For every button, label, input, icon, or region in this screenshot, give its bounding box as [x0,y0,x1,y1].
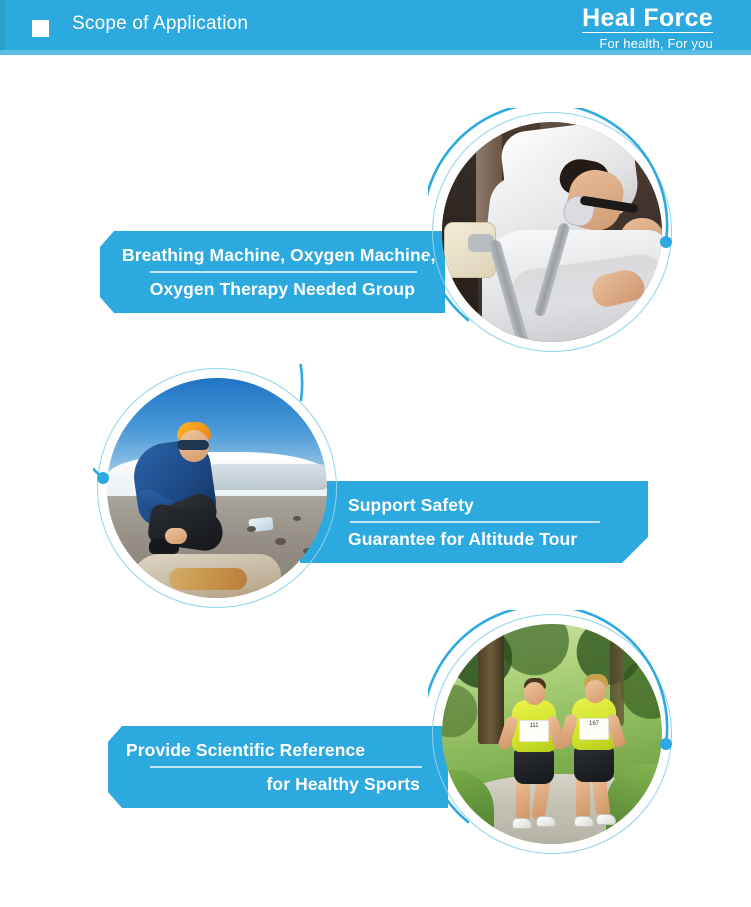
banner-separator-rule [350,521,600,523]
banner-line-2: for Healthy Sports [126,773,434,795]
photo-clip [442,122,662,342]
brand-name: Heal Force [582,5,713,33]
banner-altitude-tour: Support Safety Guarantee for Altitude To… [300,481,648,563]
banner-healthy-sports: Provide Scientific Reference for Healthy… [108,726,448,808]
photo-content: 111 187 [442,624,662,844]
cpap-patient-sleeping-photo [432,112,672,352]
photo-content [107,378,327,598]
race-bib-number-female: 187 [579,721,609,728]
banner-line-2: Guarantee for Altitude Tour [348,528,622,550]
section-healthy-sports: Provide Scientific Reference for Healthy… [0,608,751,860]
brand-logo: Heal Force For health, For you [533,5,713,52]
runners-forest-path-photo: 111 187 [432,614,672,854]
square-bullet-icon [32,20,49,37]
banner-line-1: Provide Scientific Reference [126,739,434,761]
page-header: Scope of Application Heal Force For heal… [0,0,751,55]
photo-clip: 111 187 [442,624,662,844]
banner-breathing-machine: Breathing Machine, Oxygen Machine, Oxyge… [100,231,445,313]
banner-separator-rule [150,271,417,273]
mountaineer-altitude-photo [97,368,337,608]
section-altitude-tour: Support Safety Guarantee for Altitude To… [0,368,751,606]
photo-content [442,122,662,342]
banner-line-1: Breathing Machine, Oxygen Machine, [122,244,431,266]
section-breathing-machine: Breathing Machine, Oxygen Machine, Oxyge… [0,108,751,358]
banner-line-2: Oxygen Therapy Needed Group [122,278,431,300]
banner-separator-rule [150,766,422,768]
header-left-accent-strip [0,0,5,55]
header-underline-strip [0,50,751,55]
race-bib-number-male: 111 [519,723,549,730]
scope-of-application-page: Scope of Application Heal Force For heal… [0,0,751,907]
photo-clip [107,378,327,598]
banner-line-1: Support Safety [348,494,622,516]
page-title: Scope of Application [72,13,248,35]
